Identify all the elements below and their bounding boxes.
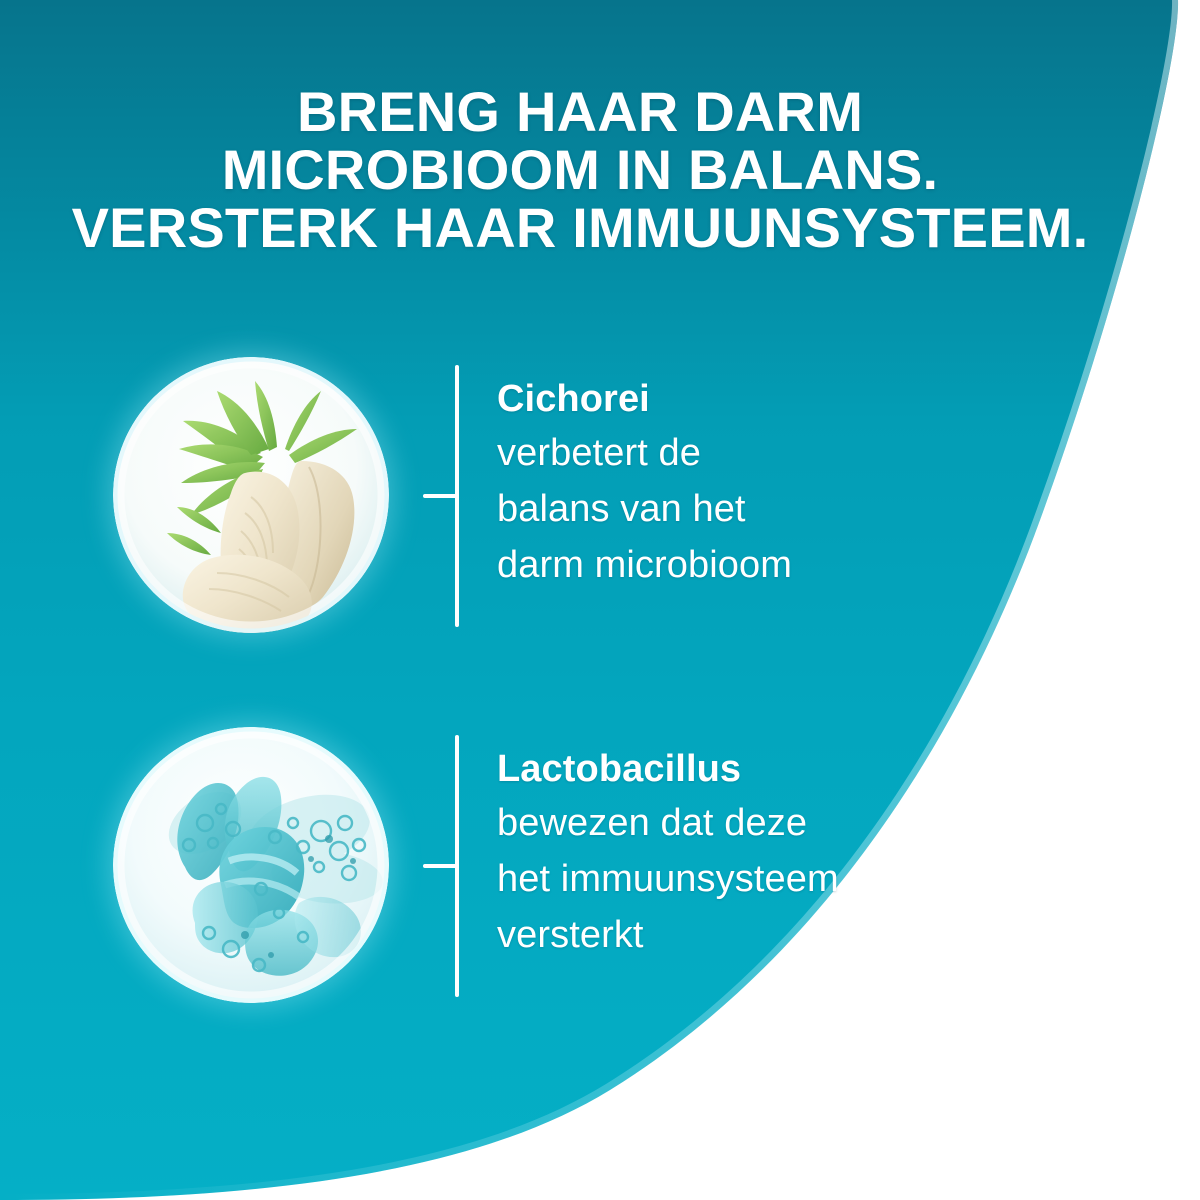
- lactobacillus-photo: [113, 727, 389, 1003]
- ingredient-description: verbetert de balans van het darm microbi…: [497, 425, 997, 593]
- ingredient-description: bewezen dat deze het immuunsysteem verst…: [497, 795, 997, 963]
- ingredient-copy-lactobacillus: Lactobacillus bewezen dat deze het immuu…: [497, 743, 997, 963]
- infographic-poster: BRENG HAAR DARM MICROBIOOM IN BALANS. VE…: [0, 0, 1200, 1200]
- chicory-roots-photo: [113, 357, 389, 633]
- ingredient-term: Cichorei: [497, 373, 997, 425]
- ingredient-term: Lactobacillus: [497, 743, 997, 795]
- ingredient-copy-cichorei: Cichorei verbetert de balans van het dar…: [497, 373, 997, 593]
- page-title: BRENG HAAR DARM MICROBIOOM IN BALANS. VE…: [0, 83, 1160, 257]
